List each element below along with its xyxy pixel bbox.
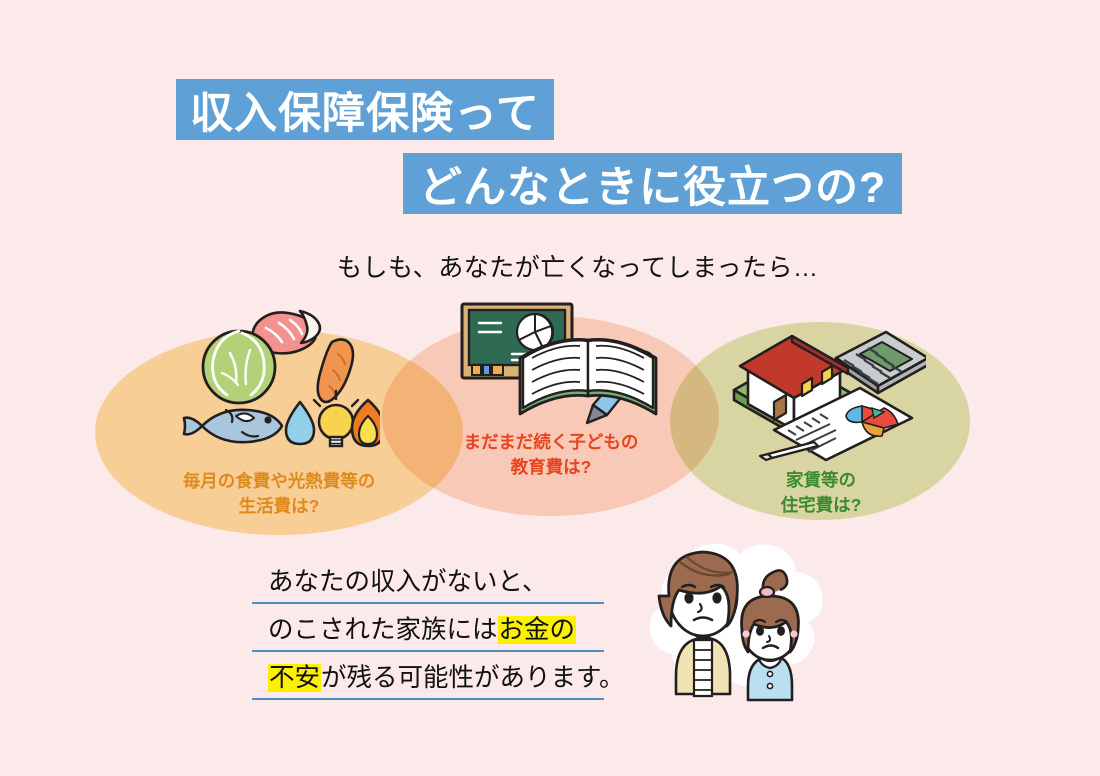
title-text-line-2: どんなときに役立つの? <box>419 153 886 215</box>
circle-label-housing-cost: 家賃等の 住宅費は? <box>680 468 962 519</box>
message-line-2-plain: のこされた家族には <box>268 616 498 644</box>
circle-label-housing-cost-line-1: 家賃等の <box>680 468 962 493</box>
fish-icon <box>184 410 282 442</box>
message-line-3-highlight: 不安 <box>268 664 321 692</box>
message-line-2-text: のこされた家族にはお金の <box>252 609 576 646</box>
infographic-canvas: 収入保障保険って どんなときに役立つの? もしも、あなたが亡くなってしまったら… <box>0 0 1100 776</box>
cabbage-icon <box>203 331 275 403</box>
message-line-2: のこされた家族にはお金の <box>252 604 604 652</box>
title-text-line-1: 収入保障保険って <box>190 79 540 141</box>
circle-label-education-cost-line-1: まだまだ続く子どもの <box>392 430 710 455</box>
circle-label-housing-cost-line-2: 住宅費は? <box>680 493 962 518</box>
title-banner-line-2: どんなときに役立つの? <box>403 153 902 214</box>
open-book-icon <box>520 339 656 414</box>
circle-label-education-cost-line-2: 教育費は? <box>392 455 710 480</box>
circle-label-living-cost-line-2: 生活費は? <box>104 494 454 519</box>
worried-family-illustration <box>624 534 846 731</box>
message-line-1: あなたの収入がないと、 <box>252 556 604 604</box>
calculator-icon <box>836 332 926 393</box>
housing-cost-illustration <box>716 298 926 473</box>
message-line-3-text: 不安が残る可能性があります。 <box>252 657 624 694</box>
circle-label-education-cost: まだまだ続く子どもの 教育費は? <box>392 430 710 481</box>
flame-icon <box>352 400 380 446</box>
message-line-2-highlight: お金の <box>498 616 577 644</box>
message-line-3-plain: が残る可能性があります。 <box>321 664 624 692</box>
mother-figure <box>659 552 737 696</box>
education-cost-illustration <box>450 296 660 441</box>
living-cost-illustration <box>180 298 380 463</box>
water-drop-icon <box>286 402 314 444</box>
message-line-3: 不安が残る可能性があります。 <box>252 652 604 700</box>
message-line-1-text: あなたの収入がないと、 <box>252 561 547 598</box>
subtitle-text: もしも、あなたが亡くなってしまったら… <box>337 248 819 284</box>
message-block: あなたの収入がないと、 のこされた家族にはお金の 不安が残る可能性があります。 <box>252 556 604 700</box>
title-banner-line-1: 収入保障保険って <box>176 79 554 140</box>
